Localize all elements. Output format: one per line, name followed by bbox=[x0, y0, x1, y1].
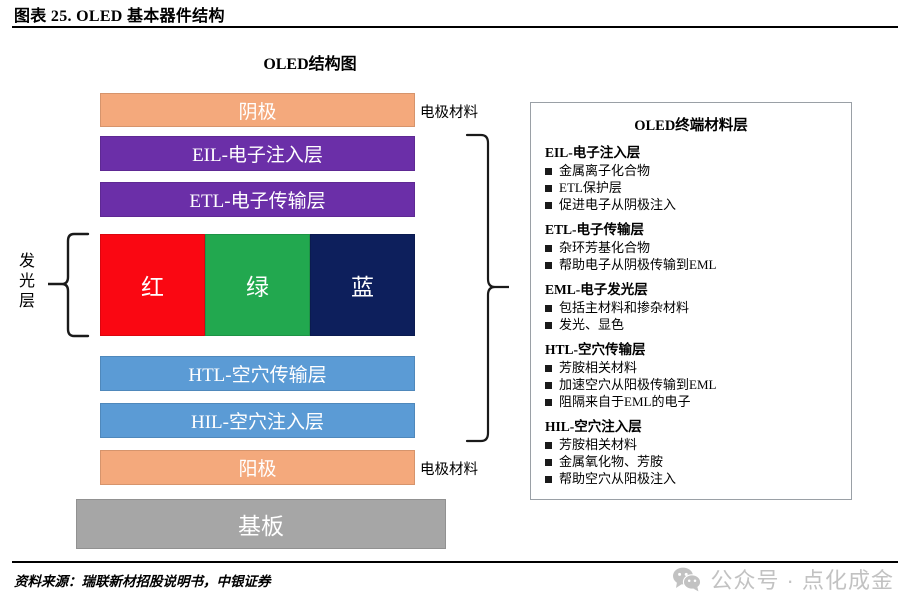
source-note: 资料来源：瑞联新材招股说明书，中银证券 bbox=[14, 570, 271, 590]
layer-label-cathode: 阴极 bbox=[238, 97, 276, 124]
panel-section-heading-eil: EIL-电子注入层 bbox=[545, 145, 851, 161]
emitting-layer-label: 发光层 bbox=[16, 252, 38, 312]
layer-bar-etl: ETL-电子传输层 bbox=[100, 182, 415, 217]
watermark-text: 公众号 · 点化成金 bbox=[710, 563, 894, 595]
layer-bar-anode: 阳极 bbox=[100, 450, 415, 485]
emission-label-green: 绿 bbox=[246, 268, 269, 302]
list-item-label: 阻隔来自于EML的电子 bbox=[559, 393, 690, 410]
list-item: 包括主材料和掺杂材料 bbox=[545, 299, 851, 316]
panel-section-list-eml: 包括主材料和掺杂材料 发光、显色 bbox=[545, 299, 851, 333]
list-item-label: 芳胺相关材料 bbox=[559, 359, 637, 376]
wechat-icon bbox=[672, 566, 702, 592]
list-item-label: 包括主材料和掺杂材料 bbox=[559, 299, 689, 316]
panel-section-list-eil: 金属离子化合物 ETL保护层 促进电子从阴极注入 bbox=[545, 162, 851, 213]
list-item: 促进电子从阴极注入 bbox=[545, 196, 851, 213]
list-item-label: 帮助电子从阴极传输到EML bbox=[559, 256, 716, 273]
diagram-title: OLED结构图 bbox=[150, 50, 470, 74]
list-item: ETL保护层 bbox=[545, 179, 851, 196]
bullet-square-icon bbox=[545, 476, 552, 483]
bullet-square-icon bbox=[545, 185, 552, 192]
bullet-square-icon bbox=[545, 168, 552, 175]
panel-body: EIL-电子注入层 金属离子化合物 ETL保护层 促进电子从阴极注入 ETL-电… bbox=[531, 145, 851, 487]
page-title: 图表 25. OLED 基本器件结构 bbox=[14, 2, 225, 26]
bullet-square-icon bbox=[545, 322, 552, 329]
electrode-material-label-bottom: 电极材料 bbox=[420, 458, 478, 479]
layer-bar-htl: HTL-空穴传输层 bbox=[100, 356, 415, 391]
bullet-square-icon bbox=[545, 382, 552, 389]
layer-bar-cathode: 阴极 bbox=[100, 93, 415, 127]
list-item-label: 杂环芳基化合物 bbox=[559, 239, 650, 256]
layer-label-etl: ETL-电子传输层 bbox=[189, 186, 325, 213]
list-item-label: ETL保护层 bbox=[559, 179, 622, 196]
list-item: 芳胺相关材料 bbox=[545, 359, 851, 376]
layer-bar-eil: EIL-电子注入层 bbox=[100, 136, 415, 171]
header-divider bbox=[12, 26, 898, 28]
layer-label-htl: HTL-空穴传输层 bbox=[188, 360, 326, 387]
panel-section-heading-etl: ETL-电子传输层 bbox=[545, 222, 851, 238]
layer-bar-substrate: 基板 bbox=[76, 499, 446, 549]
list-item-label: 发光、显色 bbox=[559, 316, 624, 333]
list-item: 杂环芳基化合物 bbox=[545, 239, 851, 256]
material-layer-panel: OLED终端材料层 EIL-电子注入层 金属离子化合物 ETL保护层 促进电子从… bbox=[530, 102, 852, 500]
emission-cell-green: 绿 bbox=[205, 234, 310, 336]
layer-label-eil: EIL-电子注入层 bbox=[192, 140, 323, 167]
list-item: 帮助空穴从阳极注入 bbox=[545, 470, 851, 487]
list-item: 金属离子化合物 bbox=[545, 162, 851, 179]
list-item-label: 芳胺相关材料 bbox=[559, 436, 637, 453]
bullet-square-icon bbox=[545, 442, 552, 449]
bullet-square-icon bbox=[545, 245, 552, 252]
bullet-square-icon bbox=[545, 262, 552, 269]
bullet-square-icon bbox=[545, 202, 552, 209]
electrode-material-label-top: 电极材料 bbox=[420, 101, 478, 122]
layer-label-substrate: 基板 bbox=[238, 507, 284, 541]
panel-section-list-htl: 芳胺相关材料 加速空穴从阳极传输到EML 阻隔来自于EML的电子 bbox=[545, 359, 851, 410]
list-item-label: 金属离子化合物 bbox=[559, 162, 650, 179]
emission-label-blue: 蓝 bbox=[351, 268, 374, 302]
list-item-label: 促进电子从阴极注入 bbox=[559, 196, 676, 213]
emission-label-red: 红 bbox=[141, 268, 164, 302]
panel-section-list-hil: 芳胺相关材料 金属氧化物、芳胺 帮助空穴从阳极注入 bbox=[545, 436, 851, 487]
panel-section-heading-hil: HIL-空穴注入层 bbox=[545, 419, 851, 435]
list-item: 加速空穴从阳极传输到EML bbox=[545, 376, 851, 393]
emitting-layer-brace bbox=[44, 232, 96, 340]
layer-label-anode: 阳极 bbox=[238, 454, 276, 481]
panel-title: OLED终端材料层 bbox=[531, 114, 851, 135]
bullet-square-icon bbox=[545, 305, 552, 312]
panel-section-list-etl: 杂环芳基化合物 帮助电子从阴极传输到EML bbox=[545, 239, 851, 273]
list-item-label: 金属氧化物、芳胺 bbox=[559, 453, 663, 470]
emission-cell-blue: 蓝 bbox=[310, 234, 415, 336]
list-item: 阻隔来自于EML的电子 bbox=[545, 393, 851, 410]
bullet-square-icon bbox=[545, 459, 552, 466]
list-item: 帮助电子从阴极传输到EML bbox=[545, 256, 851, 273]
list-item-label: 帮助空穴从阳极注入 bbox=[559, 470, 676, 487]
panel-section-heading-htl: HTL-空穴传输层 bbox=[545, 342, 851, 358]
emission-cell-red: 红 bbox=[100, 234, 205, 336]
watermark: 公众号 · 点化成金 bbox=[672, 563, 894, 595]
list-item: 金属氧化物、芳胺 bbox=[545, 453, 851, 470]
bullet-square-icon bbox=[545, 399, 552, 406]
stack-to-panel-brace bbox=[465, 132, 511, 444]
bullet-square-icon bbox=[545, 365, 552, 372]
list-item: 芳胺相关材料 bbox=[545, 436, 851, 453]
layer-bar-hil: HIL-空穴注入层 bbox=[100, 403, 415, 438]
list-item-label: 加速空穴从阳极传输到EML bbox=[559, 376, 716, 393]
list-item: 发光、显色 bbox=[545, 316, 851, 333]
layer-label-hil: HIL-空穴注入层 bbox=[191, 407, 324, 434]
panel-section-heading-eml: EML-电子发光层 bbox=[545, 282, 851, 298]
